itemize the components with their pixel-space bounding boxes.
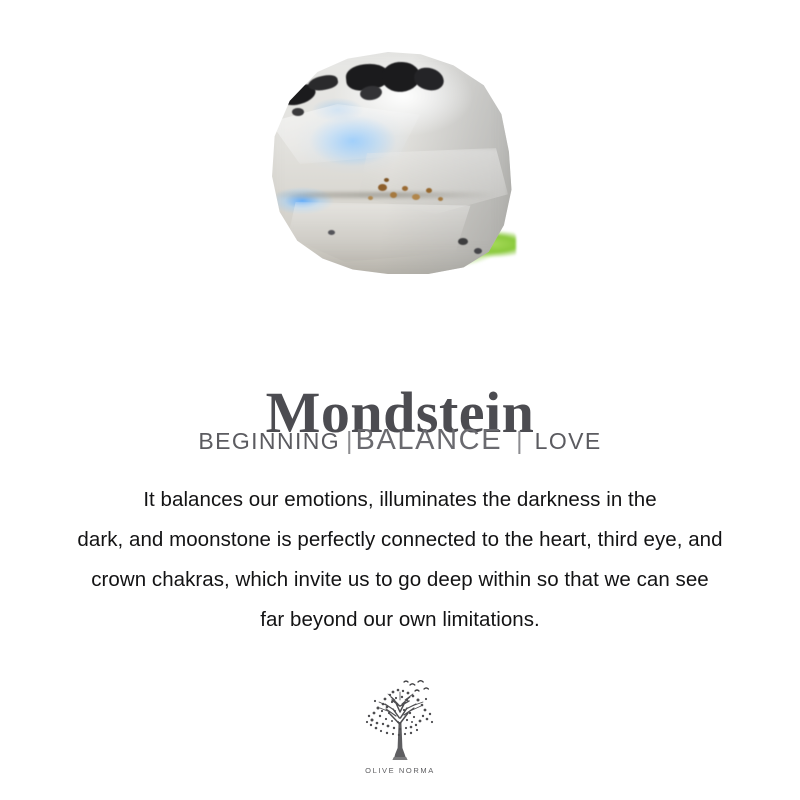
olive-tree-icon bbox=[352, 678, 448, 764]
keyword-separator: | bbox=[346, 427, 353, 455]
description-text: It balances our emotions, illuminates th… bbox=[40, 480, 760, 640]
moonstone-body bbox=[262, 52, 514, 274]
keyword-balance: BALANCE bbox=[356, 424, 503, 456]
keyword-love: LOVE bbox=[535, 428, 602, 454]
rust-speck bbox=[402, 186, 408, 191]
rust-speck bbox=[438, 197, 443, 201]
dark-inclusion bbox=[412, 66, 445, 93]
moonstone-image bbox=[262, 52, 514, 280]
dark-inclusion bbox=[458, 238, 468, 245]
description-line: far beyond our own limitations. bbox=[40, 600, 760, 640]
brand-logo: OLIVE NORMA bbox=[0, 678, 800, 775]
crystal-fracture-line bbox=[272, 192, 496, 198]
rust-speck bbox=[368, 196, 373, 200]
crystal-facet bbox=[288, 202, 478, 262]
rust-speck bbox=[390, 192, 397, 198]
description-line: dark, and moonstone is perfectly connect… bbox=[40, 520, 760, 560]
crystal-facet bbox=[358, 148, 508, 214]
keyword-separator: | bbox=[516, 427, 523, 455]
description-line: It balances our emotions, illuminates th… bbox=[40, 480, 760, 520]
brand-name: OLIVE NORMA bbox=[0, 766, 800, 775]
dark-inclusion bbox=[328, 230, 335, 235]
rust-speck bbox=[412, 194, 420, 200]
keyword-beginning: BEGINNING bbox=[198, 428, 340, 454]
product-info-card: Mondstein BEGINNING|BALANCE|LOVE It bala… bbox=[0, 0, 800, 800]
rust-speck bbox=[384, 178, 389, 182]
rust-speck bbox=[426, 188, 432, 193]
keyword-list: BEGINNING|BALANCE|LOVE bbox=[0, 424, 800, 457]
description-line: crown chakras, which invite us to go dee… bbox=[40, 560, 760, 600]
dark-inclusion bbox=[292, 108, 304, 116]
rust-speck bbox=[378, 184, 387, 191]
dark-inclusion bbox=[474, 248, 482, 254]
product-image-area bbox=[0, 0, 800, 310]
